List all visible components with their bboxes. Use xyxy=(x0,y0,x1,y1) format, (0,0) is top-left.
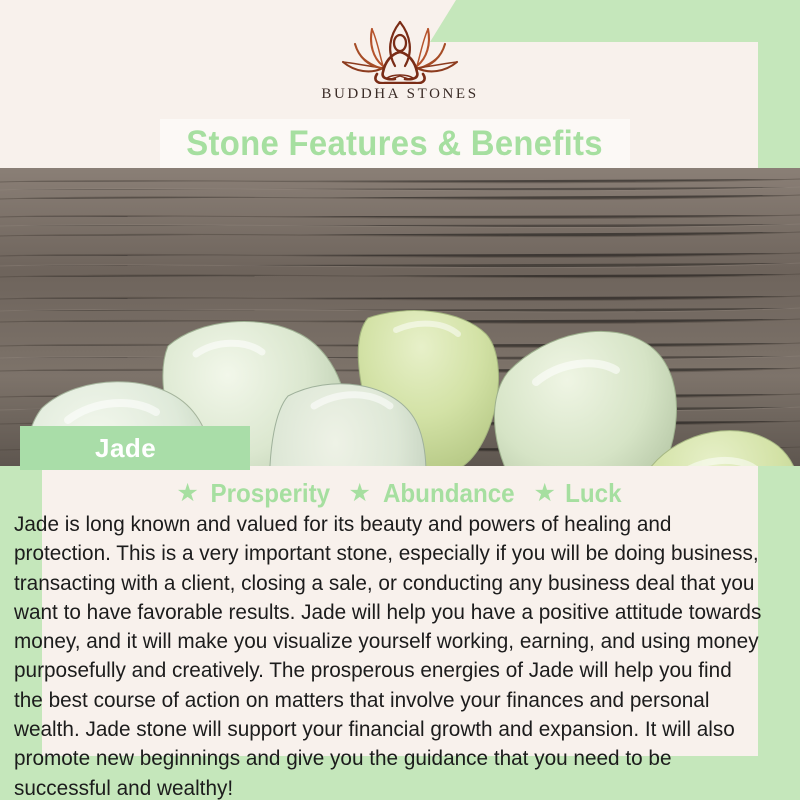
benefit-label: Prosperity xyxy=(210,478,330,509)
brand-name: BUDDHA STONES xyxy=(0,86,800,103)
benefit-item-abundance: ★ Abundance xyxy=(348,478,519,509)
benefit-item-prosperity: ★ Prosperity xyxy=(176,478,334,509)
lotus-meditation-logo-icon xyxy=(0,16,800,84)
logo-wrap: BUDDHA STONES xyxy=(0,16,800,103)
brand-header: BUDDHA STONES xyxy=(0,0,800,122)
stone-description: Jade is long known and valued for its be… xyxy=(14,510,763,800)
benefit-label: Luck xyxy=(565,478,621,509)
benefit-label: Abundance xyxy=(383,478,515,509)
star-icon: ★ xyxy=(348,481,370,506)
benefits-row: ★ Prosperity ★ Abundance ★ Luck xyxy=(0,478,800,509)
benefit-item-luck: ★ Luck xyxy=(533,478,623,509)
title-band: Stone Features & Benefits xyxy=(160,119,630,169)
star-icon: ★ xyxy=(533,481,555,506)
stone-benefits-infographic: BUDDHA STONES Stone Features & Benefits xyxy=(0,0,800,800)
star-icon: ★ xyxy=(176,481,198,506)
stone-name: Jade xyxy=(95,433,156,464)
page-title: Stone Features & Benefits xyxy=(187,124,604,164)
stone-label-banner: Jade xyxy=(20,426,250,470)
stone-photo xyxy=(0,168,800,466)
